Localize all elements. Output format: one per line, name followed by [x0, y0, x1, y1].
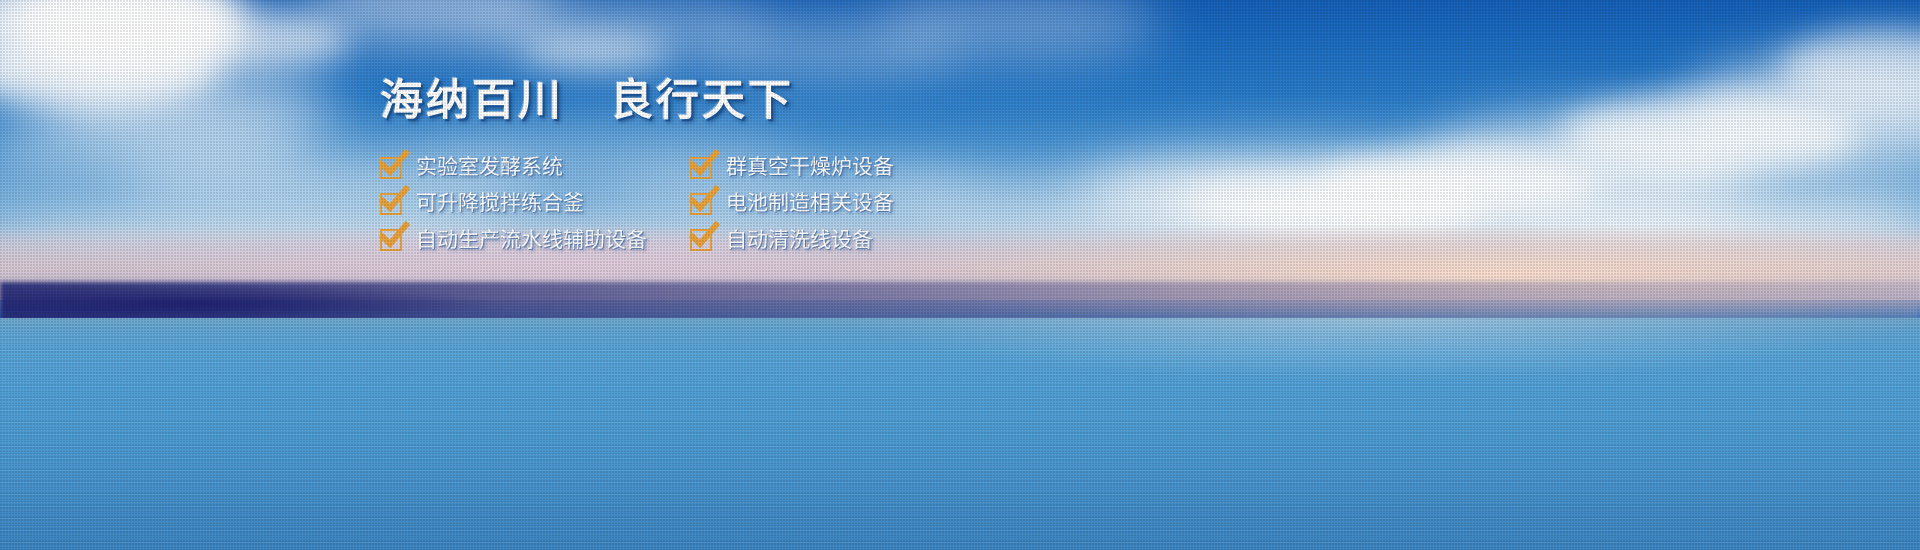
checklist-column-left: 实验室发酵系统 可升降搅拌练合釜 [380, 155, 690, 253]
checklist-item-label: 实验室发酵系统 [416, 155, 563, 180]
checklist-item-label: 群真空干燥炉设备 [726, 155, 894, 180]
check-square-icon [380, 229, 402, 251]
checklist-item[interactable]: 群真空干燥炉设备 [690, 155, 1020, 180]
banner-headline: 海纳百川 良行天下 [380, 78, 1140, 125]
feature-checklist: 实验室发酵系统 可升降搅拌练合釜 [380, 155, 1140, 253]
banner-content: 海纳百川 良行天下 实验室发酵系统 [380, 78, 1140, 253]
hero-banner: 海纳百川 良行天下 实验室发酵系统 [0, 0, 1920, 550]
checklist-item-label: 电池制造相关设备 [726, 191, 894, 216]
check-square-icon [690, 157, 712, 179]
checklist-item[interactable]: 可升降搅拌练合釜 [380, 191, 690, 216]
check-square-icon [380, 193, 402, 215]
check-square-icon [380, 157, 402, 179]
sea-ripple-texture [0, 318, 1920, 550]
checklist-item[interactable]: 实验室发酵系统 [380, 155, 690, 180]
checklist-item-label: 可升降搅拌练合釜 [416, 191, 584, 216]
check-square-icon [690, 229, 712, 251]
checklist-item-label: 自动生产流水线辅助设备 [416, 228, 647, 253]
checklist-item[interactable]: 电池制造相关设备 [690, 191, 1020, 216]
checklist-item-label: 自动清洗线设备 [726, 228, 873, 253]
checklist-item[interactable]: 自动生产流水线辅助设备 [380, 228, 690, 253]
checklist-item[interactable]: 自动清洗线设备 [690, 228, 1020, 253]
checklist-column-right: 群真空干燥炉设备 电池制造相关设备 [690, 155, 1020, 253]
check-square-icon [690, 193, 712, 215]
cloud [520, 34, 670, 68]
